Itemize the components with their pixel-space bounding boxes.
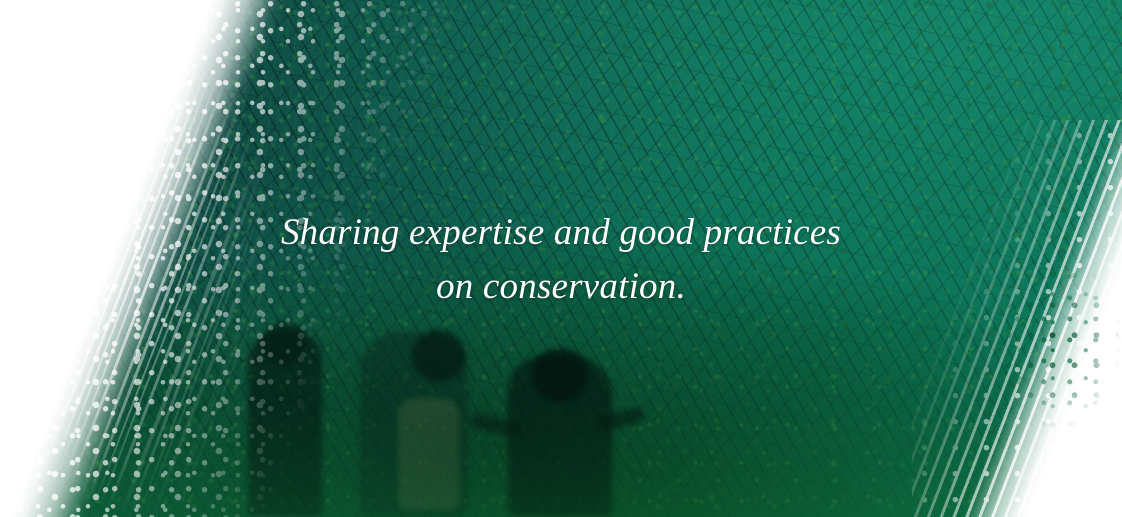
- photo-vignette: [0, 0, 1122, 517]
- hero-background-image: [0, 0, 1122, 517]
- hero-banner: Sharing expertise and good practices on …: [0, 0, 1122, 517]
